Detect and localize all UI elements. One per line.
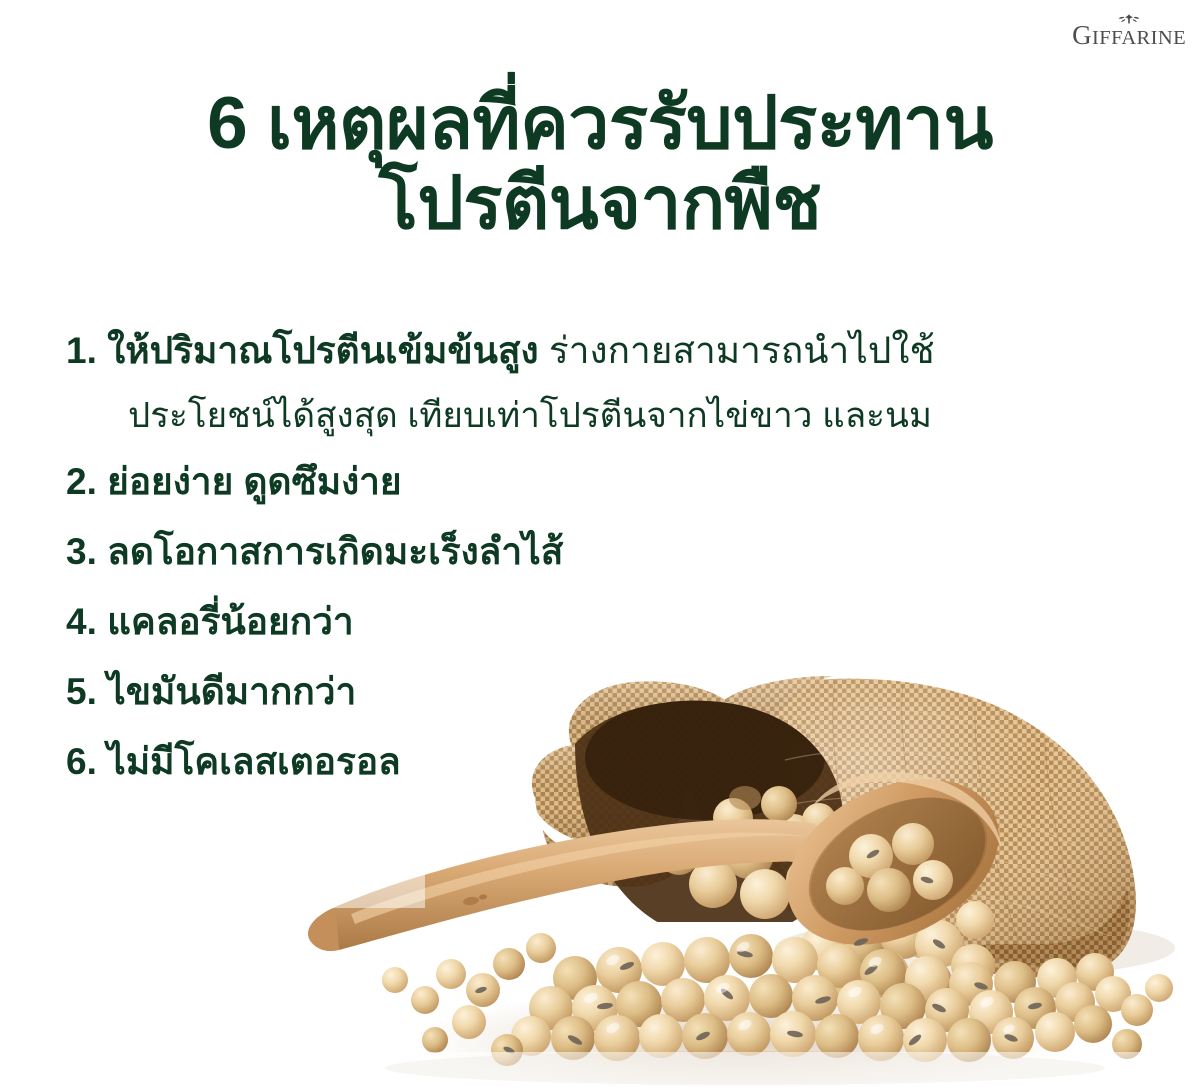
list-item: 5. ไขมันดีมากกว่า [66, 673, 1156, 710]
list-item: 2. ย่อยง่าย ดูดซึมง่าย [66, 463, 1156, 500]
brand-name-rest: IFFARINE [1092, 27, 1186, 49]
poster-root: GIFFARINE 6 เหตุผลที่ควรรับประทาน โปรตีน… [0, 0, 1200, 1087]
reasons-list: 1. ให้ปริมาณโปรตีนเข้มข้นสูง ร่างกายสามา… [66, 332, 1156, 780]
list-item: 3. ลดโอกาสการเกิดมะเร็งลำไส้ [66, 533, 1156, 570]
list-item-bold: ไม่มีโคเลสเตอรอล [107, 741, 401, 782]
list-item: 4. แคลอรี่น้อยกว่า [66, 603, 1156, 640]
list-item-bold: ให้ปริมาณโปรตีนเข้มข้นสูง [107, 330, 538, 371]
list-item-bold: แคลอรี่น้อยกว่า [107, 601, 354, 642]
list-item-number: 6. [66, 741, 97, 782]
list-item-plain: ร่างกายสามารถนำไปใช้ [549, 330, 935, 371]
brand-logo: GIFFARINE [1072, 12, 1186, 49]
list-item-bold: ไขมันดีมากกว่า [107, 671, 356, 712]
brand-name: GIFFARINE [1072, 22, 1186, 49]
list-item-number: 5. [66, 671, 97, 712]
list-item-number: 1. [66, 330, 97, 371]
list-item-number: 4. [66, 601, 97, 642]
brand-name-initial: G [1072, 20, 1092, 50]
page-title-line-1: 6 เหตุผลที่ควรรับประทาน [0, 84, 1200, 164]
page-title: 6 เหตุผลที่ควรรับประทาน โปรตีนจากพืช [0, 84, 1200, 243]
list-item-continuation: ประโยชน์ได้สูงสุด เทียบเท่าโปรตีนจากไข่ข… [128, 398, 1156, 433]
list-item: 6. ไม่มีโคเลสเตอรอล [66, 743, 1156, 780]
list-item-bold: ย่อยง่าย ดูดซึมง่าย [107, 461, 401, 502]
list-item-bold: ลดโอกาสการเกิดมะเร็งลำไส้ [107, 531, 563, 572]
list-item: 1. ให้ปริมาณโปรตีนเข้มข้นสูง ร่างกายสามา… [66, 332, 1156, 369]
list-item-number: 3. [66, 531, 97, 572]
list-item-number: 2. [66, 461, 97, 502]
page-title-line-2: โปรตีนจากพืช [0, 164, 1200, 244]
